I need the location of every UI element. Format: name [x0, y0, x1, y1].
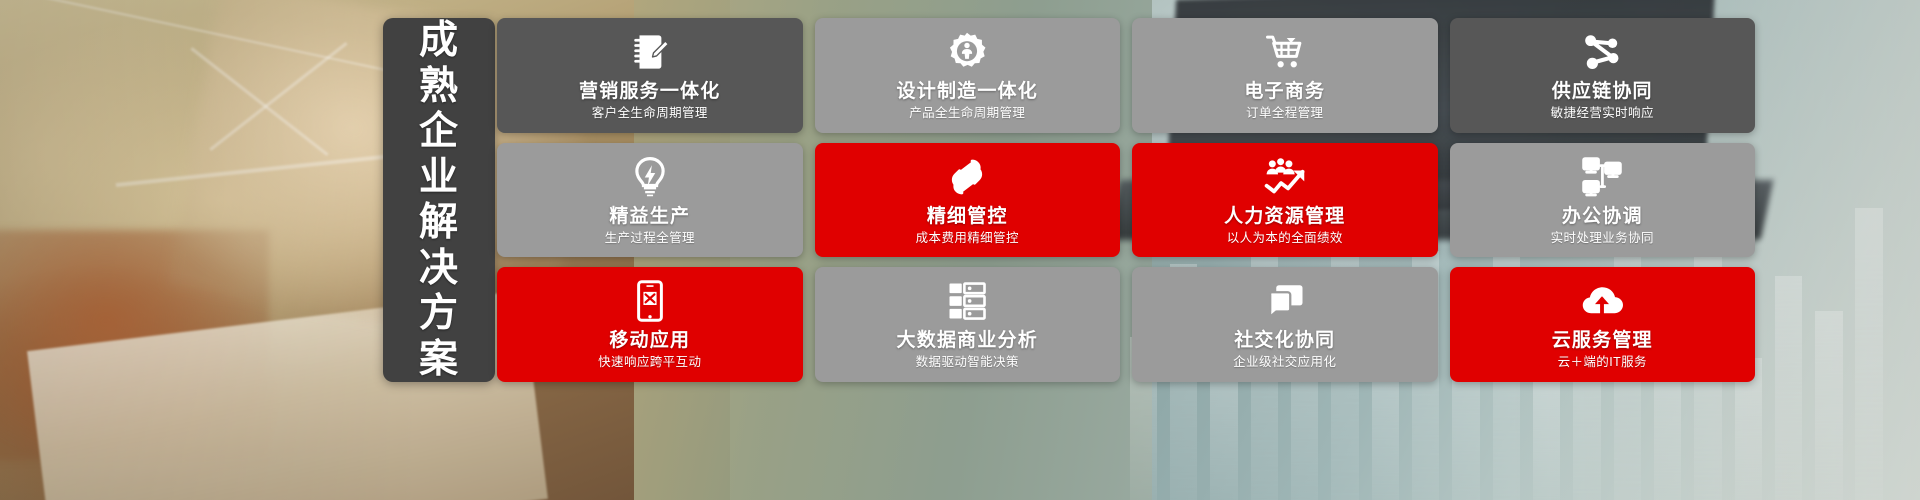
tile-e-commerce[interactable]: 电子商务 订单全程管理 [1132, 18, 1438, 133]
tile-big-data-business-analysis[interactable]: 大数据商业分析 数据驱动智能决策 [815, 267, 1121, 382]
tile-marketing-service-integration[interactable]: 营销服务一体化 客户全生命周期管理 [497, 18, 803, 133]
tile-lean-production[interactable]: 精益生产 生产过程全管理 [497, 143, 803, 258]
heading-char: 熟 [419, 64, 459, 110]
heading-char: 业 [419, 155, 459, 201]
vertical-heading-panel: 成 熟 企 业 解 决 方 案 [383, 18, 495, 382]
tile-supply-chain-collaboration[interactable]: 供应链协同 敏捷经营实时响应 [1450, 18, 1756, 133]
tile-title: 移动应用 [609, 331, 690, 350]
tile-mobile-application[interactable]: 移动应用 快速响应跨平互动 [497, 267, 803, 382]
tile-subtitle: 企业级社交应用化 [1233, 356, 1336, 369]
network-nodes-icon [1581, 31, 1623, 73]
tile-subtitle: 成本费用精细管控 [916, 232, 1019, 245]
tile-title: 精细管控 [927, 207, 1008, 226]
tile-human-resource-management[interactable]: 人力资源管理 以人为本的全面绩效 [1132, 143, 1438, 258]
heading-char: 企 [419, 109, 459, 155]
lightbulb-bolt-icon [629, 156, 671, 198]
data-blocks-icon [946, 280, 988, 322]
tile-social-collaboration[interactable]: 社交化协同 企业级社交应用化 [1132, 267, 1438, 382]
solution-tile-grid: 营销服务一体化 客户全生命周期管理 设计制造一体化 产品全生命周期管理 电子商务… [497, 18, 1755, 382]
tile-title: 大数据商业分析 [897, 331, 1038, 350]
notebook-pencil-icon [629, 31, 671, 73]
heading-char: 解 [419, 200, 459, 246]
gear-person-icon [946, 31, 988, 73]
heading-char: 决 [419, 246, 459, 292]
tile-subtitle: 数据驱动智能决策 [916, 356, 1019, 369]
shopping-cart-download-icon [1264, 31, 1306, 73]
tile-title: 设计制造一体化 [897, 82, 1038, 101]
mobile-phone-icon [629, 280, 671, 322]
tile-subtitle: 产品全生命周期管理 [909, 107, 1025, 120]
chain-link-icon [946, 156, 988, 198]
tile-title: 营销服务一体化 [579, 82, 720, 101]
tile-title: 办公协调 [1562, 207, 1643, 226]
growth-arrow-people-icon [1264, 156, 1306, 198]
heading-char: 案 [419, 337, 459, 383]
chat-bubbles-icon [1264, 280, 1306, 322]
connected-devices-icon [1581, 156, 1623, 198]
tile-title: 精益生产 [609, 207, 690, 226]
heading-char: 成 [419, 18, 459, 64]
tile-subtitle: 敏捷经营实时响应 [1551, 107, 1654, 120]
tile-title: 社交化协同 [1234, 331, 1335, 350]
tile-cloud-service-management[interactable]: 云服务管理 云＋端的IT服务 [1450, 267, 1756, 382]
tile-title: 人力资源管理 [1224, 207, 1345, 226]
tile-subtitle: 云＋端的IT服务 [1558, 356, 1647, 369]
tile-title: 供应链协同 [1552, 82, 1653, 101]
tile-subtitle: 客户全生命周期管理 [592, 107, 708, 120]
tile-subtitle: 实时处理业务协同 [1551, 232, 1654, 245]
tile-design-manufacture-integration[interactable]: 设计制造一体化 产品全生命周期管理 [815, 18, 1121, 133]
tile-fine-cost-control[interactable]: 精细管控 成本费用精细管控 [815, 143, 1121, 258]
heading-char: 方 [419, 291, 459, 337]
tile-subtitle: 快速响应跨平互动 [598, 356, 701, 369]
tile-subtitle: 以人为本的全面绩效 [1227, 232, 1343, 245]
tile-title: 云服务管理 [1552, 331, 1653, 350]
tile-subtitle: 订单全程管理 [1246, 107, 1323, 120]
cloud-upload-icon [1581, 280, 1623, 322]
tile-title: 电子商务 [1244, 82, 1325, 101]
tile-office-collaboration[interactable]: 办公协调 实时处理业务协同 [1450, 143, 1756, 258]
tile-subtitle: 生产过程全管理 [605, 232, 695, 245]
